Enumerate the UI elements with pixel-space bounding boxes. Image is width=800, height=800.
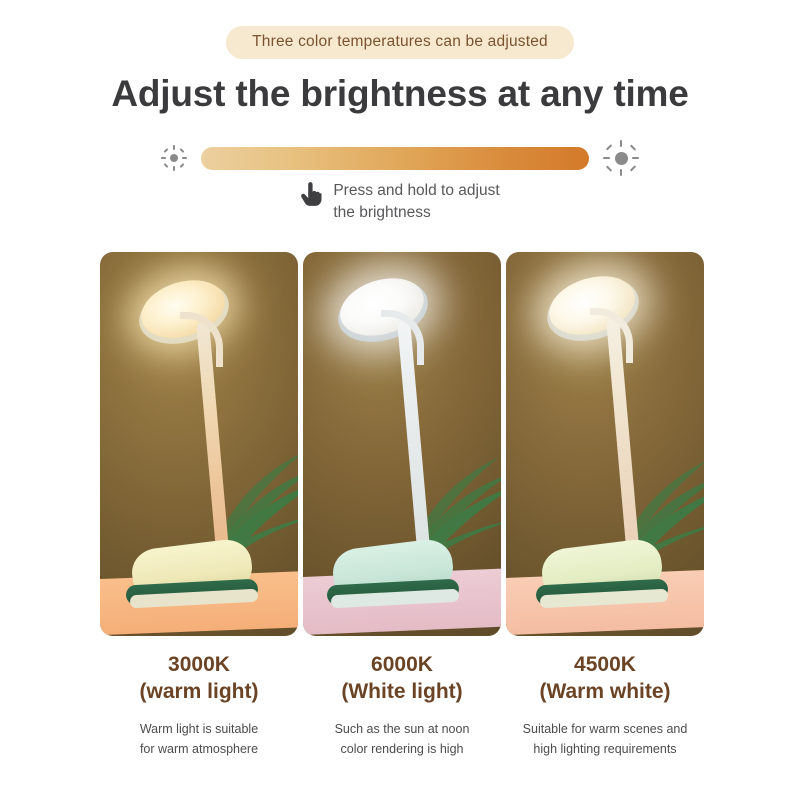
clip-lamp [303, 252, 501, 636]
caption-title: 4500K (Warm white) [506, 652, 704, 706]
caption-warm-light: 3000K (warm light) Warm light is suitabl… [100, 652, 298, 759]
press-hold-text: Press and hold to adjust the brightness [333, 180, 499, 224]
caption-description: Such as the sun at noon color rendering … [303, 719, 501, 760]
panel-row [100, 252, 704, 636]
clip-lamp [506, 252, 704, 636]
caption-description: Suitable for warm scenes and high lighti… [506, 719, 704, 760]
clip-lamp [100, 252, 298, 636]
caption-description: Warm light is suitable for warm atmosphe… [100, 719, 298, 760]
panel-white-light[interactable] [303, 252, 501, 636]
caption-title: 6000K (White light) [303, 652, 501, 706]
caption-warm-white: 4500K (Warm white) Suitable for warm sce… [506, 652, 704, 759]
brightness-slider-track[interactable] [201, 147, 589, 170]
press-hold-hint: Press and hold to adjust the brightness [0, 180, 800, 224]
brightness-slider-row [0, 140, 800, 176]
product-infographic: Three color temperatures can be adjusted… [0, 0, 800, 800]
caption-row: 3000K (warm light) Warm light is suitabl… [100, 652, 704, 759]
panel-warm-light[interactable] [100, 252, 298, 636]
page-title: Adjust the brightness at any time [0, 73, 800, 115]
badge-row: Three color temperatures can be adjusted [0, 26, 800, 59]
sun-small-icon [161, 145, 187, 171]
caption-title: 3000K (warm light) [100, 652, 298, 706]
caption-white-light: 6000K (White light) Such as the sun at n… [303, 652, 501, 759]
panel-warm-white[interactable] [506, 252, 704, 636]
feature-badge: Three color temperatures can be adjusted [226, 26, 574, 59]
sun-large-icon [603, 140, 639, 176]
pointing-hand-icon [300, 182, 322, 211]
